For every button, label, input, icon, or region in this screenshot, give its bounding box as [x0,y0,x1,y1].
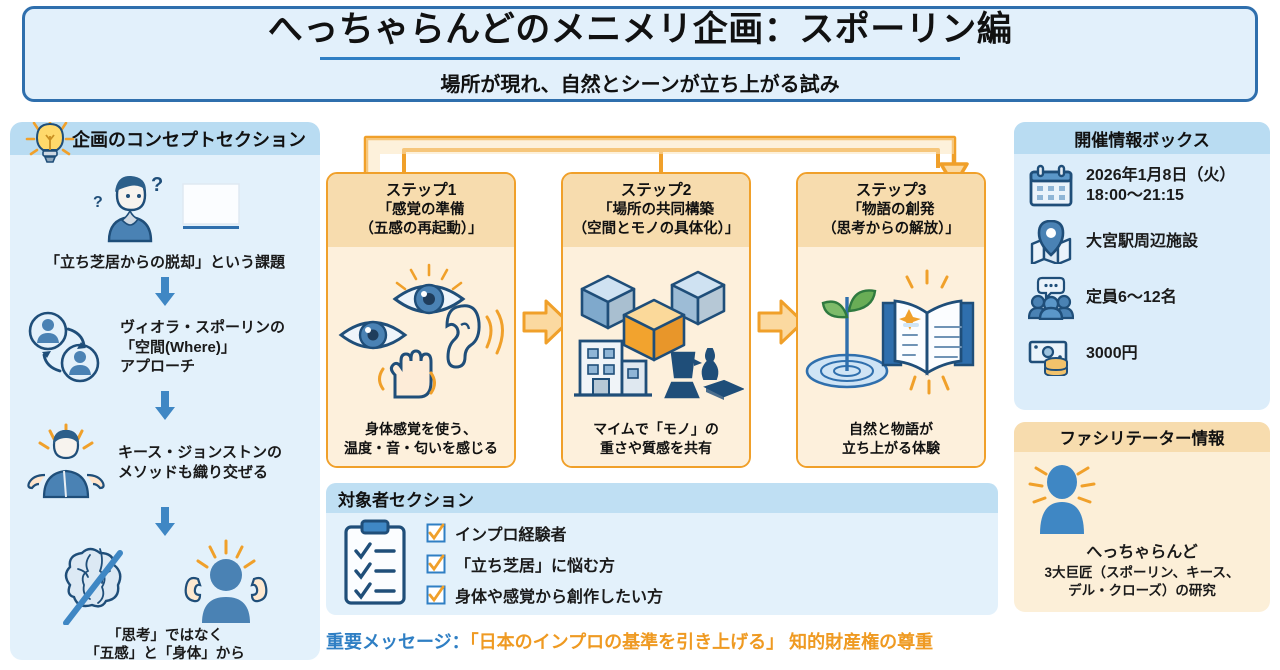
senses-icons-group [333,261,509,401]
concept-item-2: ヴィオラ・スポーリンの 「空間(Where)」 アプローチ [18,309,312,387]
calendar-icon [1028,164,1074,208]
facilitator-box: ファシリテーター情報 へっちゃらんど 3大巨匠（スポーリン、キース、 デル・クロ… [1014,422,1270,612]
step-icons-1 [328,247,514,416]
key-message-body: 「日本のインプロの基準を引き上げる」 知的財産権の尊重 [470,632,933,652]
info-date-text: 2026年1月8日（火） 18:00〜21:15 [1086,166,1235,205]
info-row-capacity: 定員6〜12名 [1028,276,1270,320]
concept-caption-2: ヴィオラ・スポーリンの 「空間(Where)」 アプローチ [120,318,285,377]
list-item: インプロ経験者 [426,521,663,545]
clipboard-checklist-icon [340,519,412,607]
page-subtitle: 場所が現れ、自然とシーンが立ち上がる試み [440,68,839,97]
open-book-icon [883,271,973,393]
step-header-3: ステップ3 「物語の創発 （思考からの解放）」 [798,174,984,247]
step-title-line1-2: 「場所の共同構築 [567,201,745,220]
eye-icon [341,322,405,348]
audience-list: インプロ経験者 「立ち芝居」に悩む方 身体や感覚から創作したい方 [426,519,663,607]
checkbox-checked-icon[interactable] [426,585,446,605]
shrugging-person-icon [20,423,112,503]
step-card-1: ステップ1 「感覚の準備 （五感の再起動）」 [326,172,516,468]
steps-section: ステップ1 「感覚の準備 （五感の再起動）」 [326,124,998,474]
audience-body: インプロ経験者 「立ち芝居」に悩む方 身体や感覚から創作したい方 [326,513,998,607]
step-title-line2-3: （思考からの解放）」 [802,220,980,239]
list-item: 身体や感覚から創作したい方 [426,583,663,607]
concept-section: 企画のコンセプトセクション ? ? 「立ち芝居からの脱却」 [10,122,320,660]
ear-icon [447,306,503,367]
concept-caption-4: 「思考」ではなく 「五感」と「身体」から [18,627,312,661]
audience-item-label: 「立ち芝居」に悩む方 [455,552,615,576]
concept-item-3: キース・ジョンストンの メソッドも織り交ぜる [18,423,312,503]
title-divider [320,57,960,60]
title-box: へっちゃらんどのメニメリ企画：スポーリン編 場所が現れ、自然とシーンが立ち上がる… [22,6,1258,102]
hand-icon [380,351,435,397]
step-card-2: ステップ2 「場所の共同構築 （空間とモノの具体化）」 [561,172,751,468]
info-capacity-text: 定員6〜12名 [1086,288,1177,308]
concept-item-4 [18,539,312,625]
info-place-text: 大宮駅周辺施設 [1086,232,1198,252]
info-row-place: 大宮駅周辺施設 [1028,220,1270,264]
event-info-header: 開催情報ボックス [1014,122,1270,154]
people-icon [1028,276,1074,320]
concept-header-label: 企画のコンセプトセクション [72,126,306,152]
audience-section: 対象者セクション インプロ経験者 [326,483,998,615]
step-title-line1-3: 「物語の創発 [802,201,980,220]
step-icons-3 [798,247,984,416]
checkbox-checked-icon[interactable] [426,554,446,574]
audience-item-label: 身体や感覚から創作したい方 [455,583,663,607]
audience-item-label: インプロ経験者 [455,521,567,545]
svg-text:?: ? [151,174,163,196]
step-header-2: ステップ2 「場所の共同構築 （空間とモノの具体化）」 [563,174,749,247]
facilitator-header: ファシリテーター情報 [1014,422,1270,452]
step-title-line2-2: （空間とモノの具体化）」 [567,220,745,239]
info-row-price: 3000円 [1028,332,1270,376]
step-icons-2 [563,247,749,416]
facilitator-body: へっちゃらんど 3大巨匠（スポーリン、キース、 デル・クローズ）の研究 [1014,452,1270,599]
map-pin-icon [1028,220,1074,264]
concept-caption-1: 「立ち芝居からの脱却」という課題 [18,253,312,273]
concept-arrow-2 [18,391,312,421]
blank-stage-icon [179,180,243,236]
step-number-1: ステップ1 [332,181,510,201]
checkbox-checked-icon[interactable] [426,523,446,543]
step-number-2: ステップ2 [567,181,745,201]
concept-item-1: ? ? [18,165,312,251]
concept-arrow-1 [18,277,312,307]
arrow-down-icon [152,391,178,421]
objects-icon [666,349,742,400]
event-info-body: 2026年1月8日（火） 18:00〜21:15 大宮駅周辺施設 [1014,154,1270,376]
person-shine-icon [1014,458,1110,536]
list-item: 「立ち芝居」に悩む方 [426,552,663,576]
svg-text:?: ? [93,194,103,211]
brain-crossed-icon [52,539,156,625]
concept-caption-3: キース・ジョンストンの メソッドも織り交ぜる [118,443,282,483]
key-message: 重要メッセージ：「日本のインプロの基準を引き上げる」 知的財産権の尊重 [326,628,1026,654]
step-number-3: ステップ3 [802,181,980,201]
sprout-icon [807,291,887,388]
money-icon [1028,332,1074,376]
infographic-page: へっちゃらんどのメニメリ企画：スポーリン編 場所が現れ、自然とシーンが立ち上がる… [0,0,1280,670]
info-price-text: 3000円 [1086,344,1138,364]
two-people-cycle-icon [24,309,110,387]
step-header-1: ステップ1 「感覚の準備 （五感の再起動）」 [328,174,514,247]
thinking-person-icon: ? ? [87,165,173,251]
arrow-down-icon [152,277,178,307]
step-title-line2-1: （五感の再起動）」 [332,220,510,239]
space-objects-group [568,261,744,401]
concept-arrow-3 [18,507,312,537]
step-caption-1: 身体感覚を使う、 温度・音・匂いを感じる [328,416,514,466]
emergence-icons-group [803,261,979,401]
step-title-line1-1: 「感覚の準備 [332,201,510,220]
key-message-prefix: 重要メッセージ： [326,632,470,652]
page-title: へっちゃらんどのメニメリ企画：スポーリン編 [268,11,1012,50]
info-row-date: 2026年1月8日（火） 18:00〜21:15 [1028,164,1270,208]
arrow-down-icon [152,507,178,537]
step-card-3: ステップ3 「物語の創発 （思考からの解放）」 [796,172,986,468]
audience-header: 対象者セクション [326,483,998,513]
step-caption-2: マイムで「モノ」の 重さや質感を共有 [563,416,749,466]
concept-body: ? ? 「立ち芝居からの脱却」という課題 [10,155,320,660]
facilitator-sub: 3大巨匠（スポーリン、キース、 デル・クローズ）の研究 [1014,564,1270,599]
facilitator-name: へっちゃらんど [1014,538,1270,562]
event-info-box: 開催情報ボックス 2026年1月8日（火） 18:00〜21:15 [1014,122,1270,410]
lightbulb-icon [24,122,76,166]
senses-person-icon [174,539,278,625]
step-caption-3: 自然と物語が 立ち上がる体験 [798,416,984,466]
